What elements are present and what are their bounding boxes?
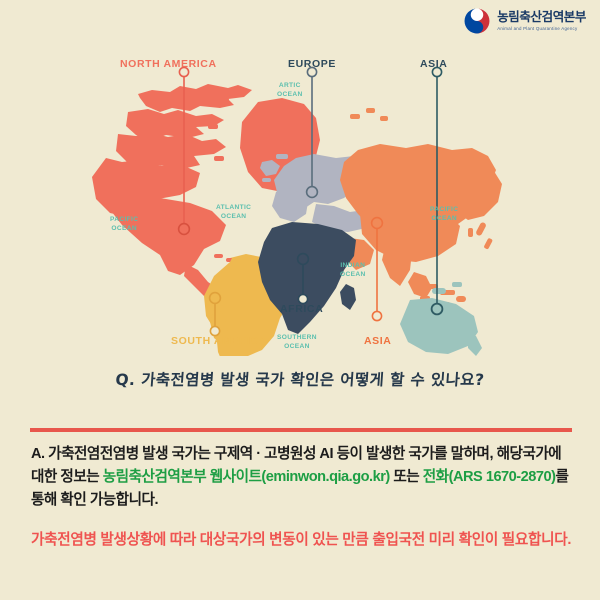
label-asia-top: ASIA [420,58,448,70]
label-europe: EUROPE [288,58,336,70]
qia-phone-number[interactable]: 전화(ARS 1670-2870) [423,469,556,485]
label-southern-ocean: SOUTHERN OCEAN [277,334,317,352]
label-atlantic-ocean: ATLANTIC OCEAN [216,204,251,222]
page-header: 농림축산검역본부 Animal and Plant Quarantine Age… [0,0,600,46]
label-atlantic-ocean-line2: OCEAN [216,213,251,222]
question-text: Q. 가축전염병 발생 국가 확인은 어떻게 할 수 있나요? [0,368,600,390]
label-south-america: SOUTH AMERICA [171,335,267,347]
label-pacific-ocean-east-line1: PACIFIC [430,206,458,215]
label-arctic-ocean-line2: OCEAN [277,91,303,100]
qia-website-link[interactable]: 농림축산검역본부 웹사이트(eminwon.qia.go.kr) [103,469,390,485]
label-africa: AFRICA [280,303,323,315]
agency-logo: 농림축산검역본부 Animal and Plant Quarantine Age… [464,8,586,34]
label-arctic-ocean: ARTIC OCEAN [277,82,303,100]
answer-line1: A. 가축전염전염병 발생 국가는 구제역 · 고병원성 AI 등이 발생한 국… [31,446,493,462]
label-asia-bottom: ASIA [364,335,392,347]
answer-note: 가축전염병 발생상황에 따라 대상국가의 변동이 있는 만큼 출입국전 미리 확… [31,529,576,552]
label-pacific-ocean-east-line2: OCEAN [430,215,458,224]
infographic-card: 농림축산검역본부 Animal and Plant Quarantine Age… [0,0,600,600]
answer-line2-suffix: 또는 [390,469,419,485]
label-indian-ocean-line1: INDIAN [340,262,366,271]
agency-name-ko: 농림축산검역본부 [497,11,586,24]
label-indian-ocean: INDIAN OCEAN [340,262,366,280]
label-indian-ocean-line2: OCEAN [340,271,366,280]
region-oceania [400,282,482,356]
taegeuk-icon [464,8,490,34]
world-map: NORTH AMERICA EUROPE ASIA SOUTH AMERICA … [0,46,600,356]
answer-block: A. 가축전염전염병 발생 국가는 구제역 · 고병원성 AI 등이 발생한 국… [31,443,576,552]
label-north-america: NORTH AMERICA [120,58,217,70]
label-pacific-ocean-west: PACIFIC OCEAN [110,216,138,234]
label-arctic-ocean-line1: ARTIC [277,82,303,91]
agency-name-en: Animal and Plant Quarantine Agency [497,27,586,31]
label-pacific-ocean-east: PACIFIC OCEAN [430,206,458,224]
label-pacific-ocean-west-line1: PACIFIC [110,216,138,225]
answer-paragraph: A. 가축전염전염병 발생 국가는 구제역 · 고병원성 AI 등이 발생한 국… [31,443,576,512]
label-atlantic-ocean-line1: ATLANTIC [216,204,251,213]
label-southern-ocean-line1: SOUTHERN [277,334,317,343]
label-southern-ocean-line2: OCEAN [277,343,317,352]
section-divider [30,428,572,432]
label-pacific-ocean-west-line2: OCEAN [110,225,138,234]
